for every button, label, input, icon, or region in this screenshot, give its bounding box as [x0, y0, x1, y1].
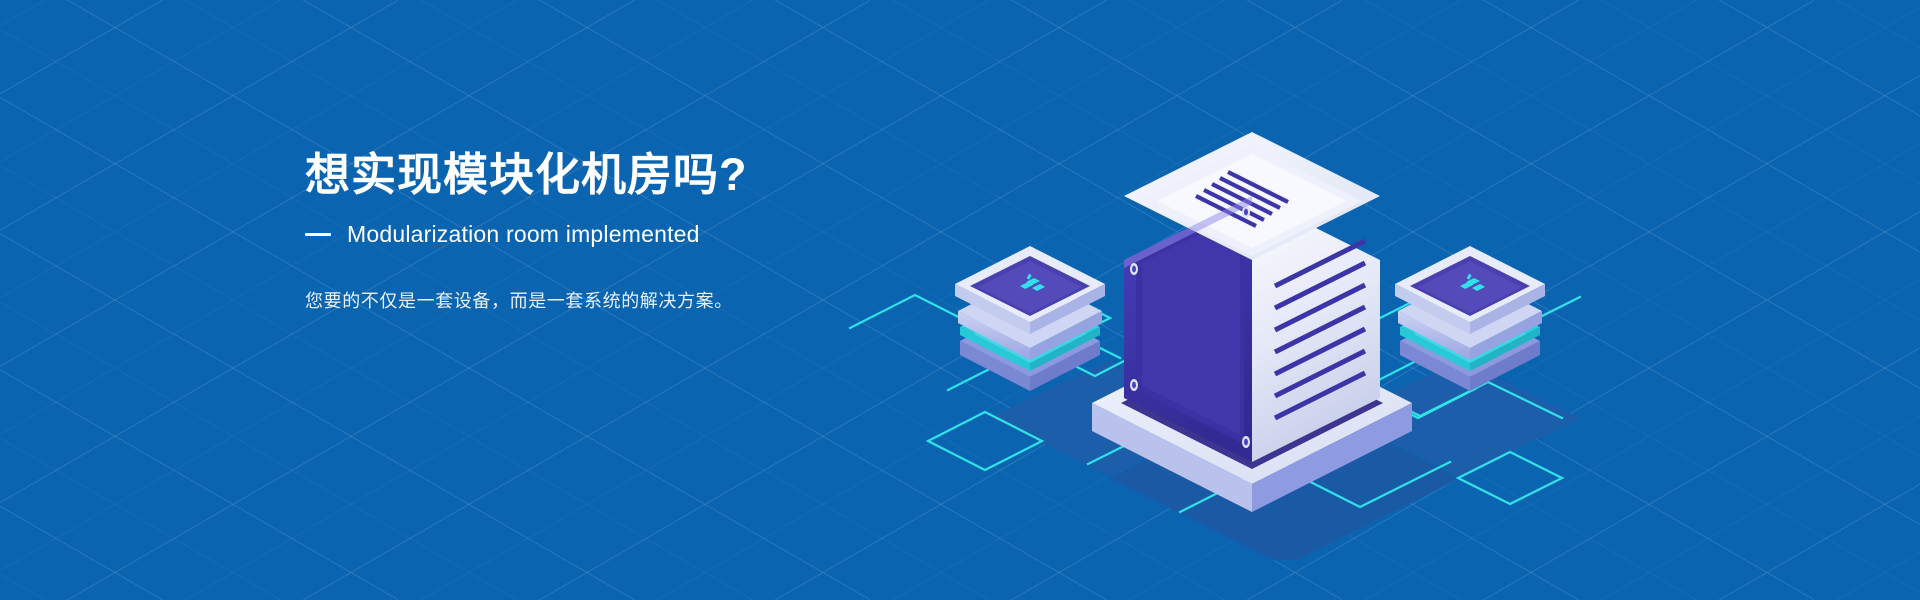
subtitle-row: Modularization room implemented [305, 221, 945, 249]
banner-text-block: 想实现模块化机房吗? Modularization room implement… [305, 148, 945, 333]
server-tower [1124, 132, 1380, 462]
chip-module-right [1395, 246, 1545, 391]
dash-icon [305, 233, 331, 236]
page-title: 想实现模块化机房吗? [305, 148, 945, 201]
banner-body-text: 您要的不仅是一套设备，而是一套系统的解决方案。 [305, 287, 945, 316]
hero-banner: 想实现模块化机房吗? Modularization room implement… [0, 0, 1920, 600]
banner-subtitle: Modularization room implemented [347, 221, 700, 249]
